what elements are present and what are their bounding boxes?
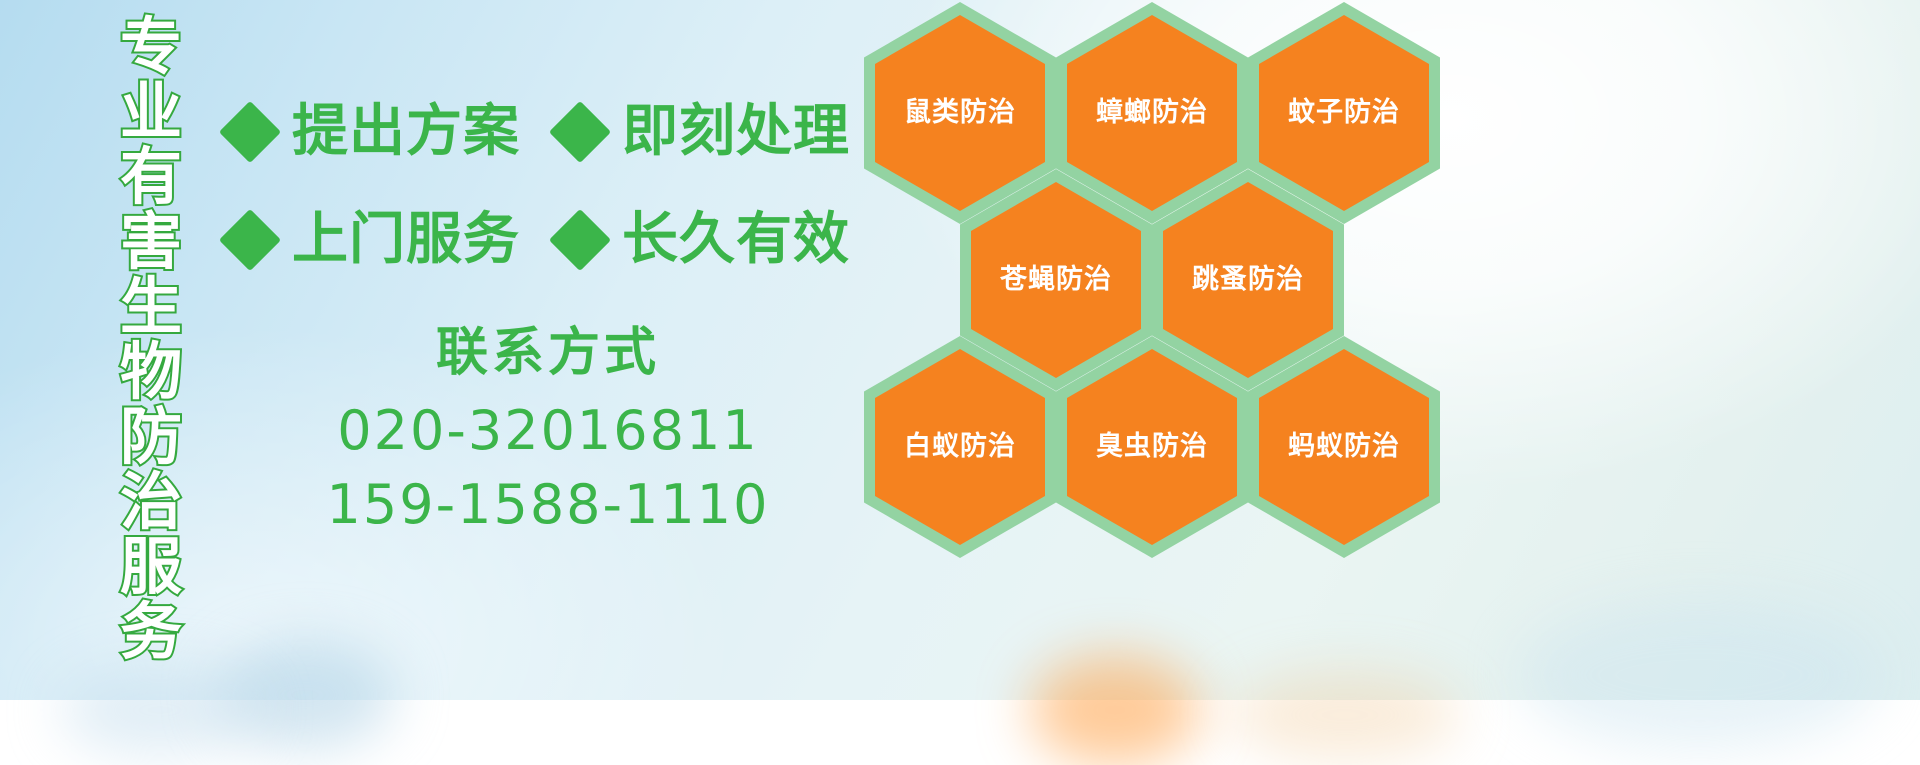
background-blob-orange (1030, 655, 1200, 765)
hex-inner: 白蚁防治 (875, 349, 1045, 545)
hex-label: 蟑螂防治 (1096, 98, 1208, 128)
hex-label: 鼠类防治 (904, 98, 1016, 128)
hex-label: 苍蝇防治 (1000, 265, 1112, 295)
vertical-title-char: 害 (120, 209, 182, 274)
diamond-bullet-icon (549, 209, 611, 271)
contact-phone-mobile[interactable]: 159-1588-1110 (228, 468, 868, 542)
vertical-title-char: 务 (120, 599, 182, 664)
hex-inner: 蟑螂防治 (1067, 15, 1237, 211)
feature-label: 上门服务 (292, 210, 520, 270)
hex-label: 跳蚤防治 (1192, 265, 1304, 295)
feature-item: 即刻处理 (558, 102, 850, 162)
feature-item: 长久有效 (558, 210, 850, 270)
contact-block: 联系方式 020-32016811 159-1588-1110 (228, 318, 868, 542)
hex-inner: 蚂蚁防治 (1259, 349, 1429, 545)
background-blob-orange (1230, 670, 1460, 760)
vertical-title-char: 生 (120, 274, 182, 339)
hex-inner: 跳蚤防治 (1163, 182, 1333, 378)
background-blob (215, 640, 395, 750)
contact-title: 联系方式 (228, 318, 868, 388)
feature-label: 提出方案 (292, 102, 520, 162)
vertical-title-char: 业 (120, 79, 182, 144)
hex-inner: 臭虫防治 (1067, 349, 1237, 545)
hex-label: 白蚁防治 (904, 432, 1016, 462)
hex-inner: 蚊子防治 (1259, 15, 1429, 211)
feature-row: 上门服务 长久有效 (228, 186, 868, 294)
diamond-bullet-icon (219, 101, 281, 163)
hex-inner: 鼠类防治 (875, 15, 1045, 211)
hex-label: 蚂蚁防治 (1288, 432, 1400, 462)
promo-banner: 专 业 有 害 生 物 防 治 服 务 提出方案 即刻处理 上门服务 (0, 0, 1920, 700)
vertical-title-char: 专 (120, 14, 182, 79)
contact-phone-landline[interactable]: 020-32016811 (228, 394, 868, 468)
vertical-title-char: 治 (120, 469, 182, 534)
feature-item: 提出方案 (228, 102, 558, 162)
vertical-title: 专 业 有 害 生 物 防 治 服 务 (103, 14, 199, 692)
feature-label: 即刻处理 (622, 102, 850, 162)
hex-inner: 苍蝇防治 (971, 182, 1141, 378)
diamond-bullet-icon (219, 209, 281, 271)
service-honeycomb: 鼠类防治 蟑螂防治 蚊子防治 苍蝇防治 跳蚤防治 白蚁防治 (864, 0, 1444, 552)
hex-label: 蚊子防治 (1288, 98, 1400, 128)
vertical-title-char: 物 (120, 339, 182, 404)
feature-item: 上门服务 (228, 210, 558, 270)
feature-list: 提出方案 即刻处理 上门服务 长久有效 (228, 78, 868, 294)
vertical-title-char: 有 (120, 144, 182, 209)
hex-label: 臭虫防治 (1096, 432, 1208, 462)
background-blob (1520, 600, 1880, 750)
diamond-bullet-icon (549, 101, 611, 163)
feature-label: 长久有效 (622, 210, 850, 270)
vertical-title-char: 防 (120, 404, 182, 469)
feature-row: 提出方案 即刻处理 (228, 78, 868, 186)
vertical-title-char: 服 (120, 534, 182, 599)
